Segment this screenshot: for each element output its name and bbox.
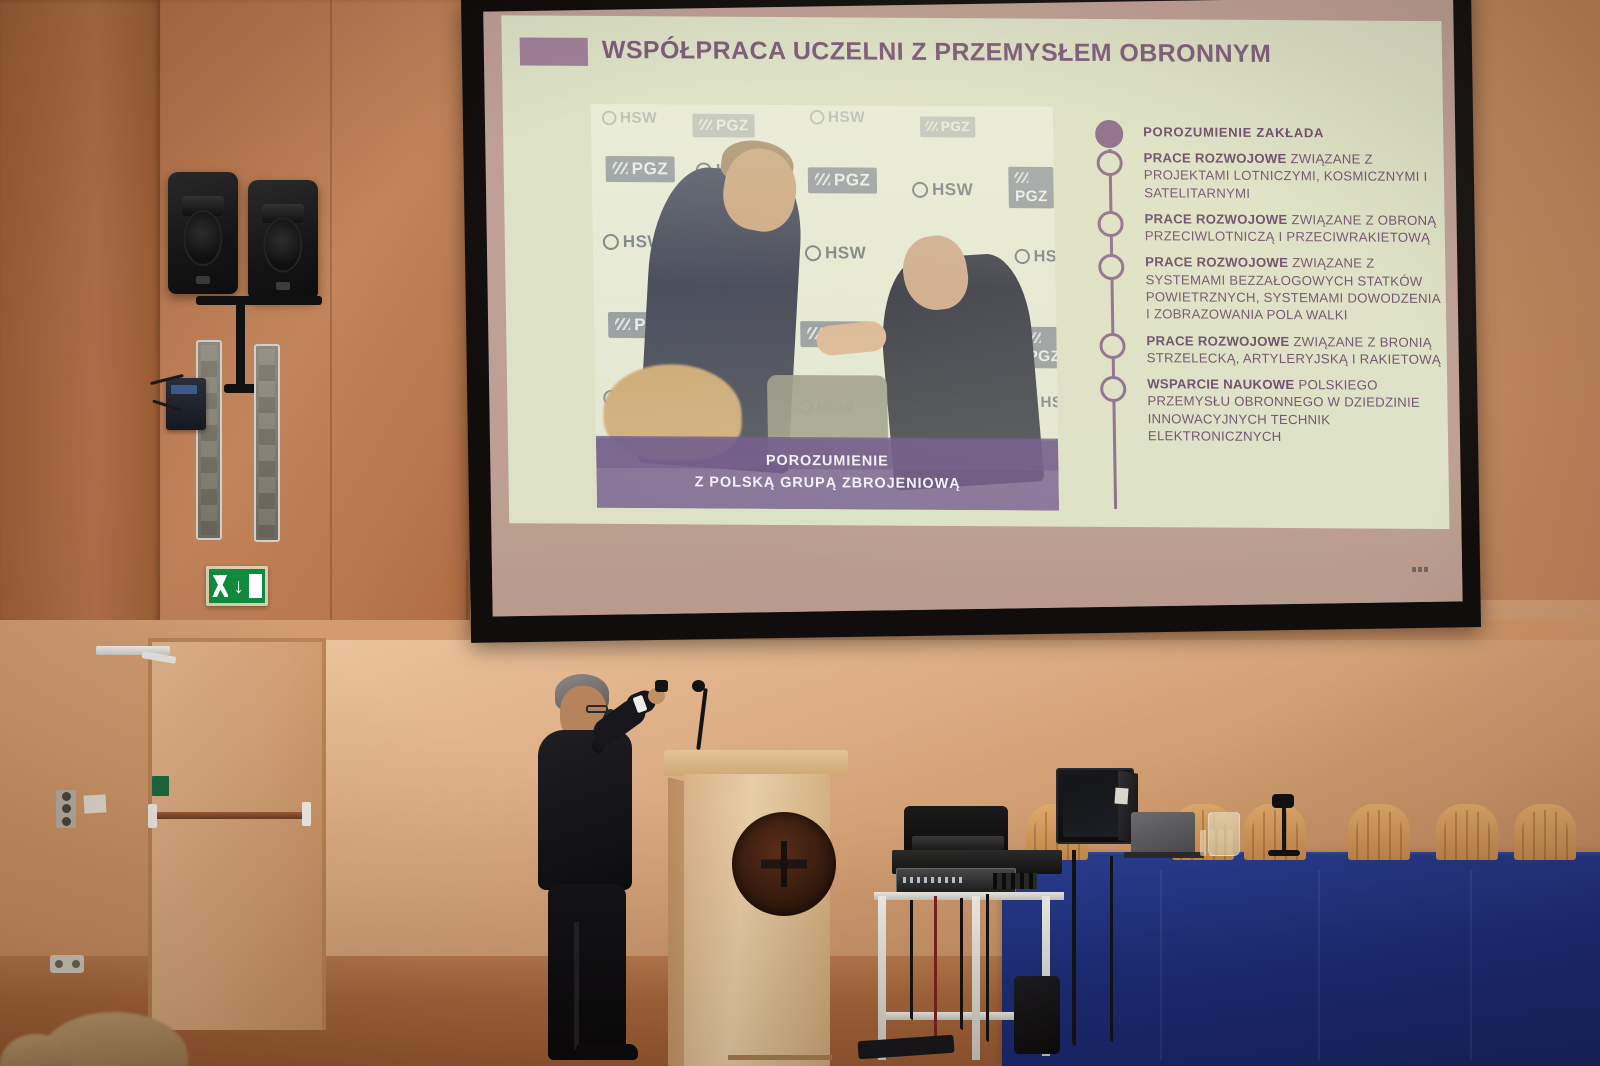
slide-bullet-text: PRACE ROZWOJOWE ZWIĄZANE Z SYSTEMAMI BEZ… (1145, 254, 1442, 325)
speaker-pole (236, 300, 245, 392)
screen-brand-mark (1412, 567, 1428, 572)
pgz-stripes-icon (699, 119, 713, 130)
speaker-pole-base (224, 384, 258, 393)
drape-fold (1470, 870, 1472, 1060)
hsw-roundel-icon (603, 234, 619, 250)
timeline-dot-hollow (1100, 376, 1126, 402)
audio-mixer-lid (912, 836, 1004, 850)
slide-bullet: PRACE ROZWOJOWE ZWIĄZANE Z SYSTEMAMI BEZ… (1097, 253, 1442, 324)
chair (1514, 804, 1576, 860)
column-speaker-grill (201, 345, 217, 535)
pgz-wordmark: PGZ (834, 170, 871, 189)
rack-led-meters (903, 877, 965, 883)
floor-cable (1110, 856, 1113, 1042)
lectern-emblem-detail (761, 841, 807, 887)
chair (1436, 804, 1498, 860)
slide-bullet-text: WSPARCIE NAUKOWE POLSKIEGO PRZEMYSŁU OBR… (1147, 375, 1444, 446)
speaker-crossbar (196, 296, 322, 305)
emergency-exit-sign: ↓ (206, 566, 268, 606)
presentation-clicker (655, 680, 668, 692)
hsw-wordmark: HSW (828, 108, 865, 126)
presenter-shoe (576, 1044, 638, 1060)
floor-cable (1072, 850, 1076, 1046)
lectern (664, 750, 848, 1066)
exit-door-glyph (249, 574, 262, 598)
wall-panel-second (160, 0, 470, 640)
pa-speaker-right (248, 180, 318, 300)
backdrop-logo-hsw: HSW (810, 108, 865, 126)
timeline-dot-hollow (1099, 332, 1125, 358)
hsw-roundel-icon (912, 182, 928, 198)
cart-top-shelf (874, 892, 1064, 900)
hsw-wordmark: HSW (620, 109, 657, 127)
backdrop-logo-pgz: PGZ (1008, 167, 1054, 209)
slide-bullet-text: POROZUMIENIE ZAKŁADA (1143, 119, 1439, 142)
speaker-badge (196, 276, 210, 284)
receiver-display (171, 385, 197, 394)
door-push-bar[interactable] (152, 812, 308, 819)
cart-leg (878, 896, 886, 1060)
switch-button[interactable] (62, 792, 71, 801)
timeline-dot-hollow (1098, 254, 1124, 280)
slide-bullet-lead: PRACE ROZWOJOWE (1145, 255, 1288, 271)
hsw-roundel-icon (805, 245, 821, 261)
backdrop-logo-hsw: HSW (912, 180, 973, 200)
lectern-foot-trim (728, 1055, 832, 1060)
slide-bullet: POROZUMIENIE ZAKŁADA (1095, 119, 1439, 142)
slide-bullet-lead: PRACE ROZWOJOWE (1146, 333, 1289, 349)
wall-seam (330, 0, 332, 660)
drape-fold (1318, 870, 1320, 1060)
speaker-woofer (183, 210, 222, 266)
laptop (1131, 812, 1195, 856)
water-carafe (1208, 812, 1240, 856)
backdrop-logo-pgz: PGZ (808, 167, 878, 193)
slide-bullet-lead: POROZUMIENIE ZAKŁADA (1143, 124, 1324, 140)
slide-bullet-lead: PRACE ROZWOJOWE (1143, 150, 1286, 166)
backdrop-logo-hsw: HSW (805, 243, 866, 263)
hsw-wordmark: HSW (825, 243, 866, 263)
switch-button[interactable] (62, 817, 71, 826)
projected-slide: WSPÓŁPRACA UCZELNI Z PRZEMYSŁEM OBRONNYM… (501, 15, 1449, 529)
slide-bullet-lead: PRACE ROZWOJOWE (1144, 211, 1287, 227)
switch-button[interactable] (62, 804, 71, 813)
lectern-body (684, 774, 830, 1066)
rack-knobs (993, 873, 1037, 889)
pgz-stripes-icon (815, 173, 830, 185)
equipment-bag (1014, 976, 1060, 1054)
socket-hole (55, 960, 63, 968)
cart-leg (972, 896, 980, 1060)
hsw-roundel-icon (602, 111, 617, 125)
slide-bullet: PRACE ROZWOJOWE ZWIĄZANE Z PROJEKTAMI LO… (1095, 149, 1440, 203)
lectern-top (664, 750, 848, 776)
laptop-base (1124, 852, 1204, 858)
title-accent-rect (520, 37, 588, 65)
push-bar-mount-right (302, 802, 311, 826)
backdrop-logo-pgz: PGZ (692, 114, 755, 138)
av-equipment-cart (874, 800, 1064, 1066)
hsw-roundel-icon (1015, 249, 1030, 264)
presenter-leg-split (574, 922, 579, 1050)
presenter-torso (538, 730, 632, 890)
slide-bullet: PRACE ROZWOJOWE ZWIĄZANE Z BRONIĄ STRZEL… (1098, 331, 1443, 368)
slide-photo: HSWPGZHSWPGZPGZHSWPGZHSWPGZHSWHSWHSWPGZP… (591, 104, 1059, 511)
wireless-receiver (166, 378, 206, 430)
pgz-stripes-icon (613, 162, 628, 174)
presenter-legs (548, 884, 626, 1060)
chair-back-slats (1522, 810, 1568, 860)
photo-caption: POROZUMIENIE Z POLSKĄ GRUPĄ ZBROJENIOWĄ (596, 436, 1059, 511)
pgz-wordmark: PGZ (1015, 187, 1048, 204)
column-speaker-grill (259, 349, 275, 537)
photo-caption-line2: Z POLSKĄ GRUPĄ ZBROJENIOWĄ (695, 472, 961, 495)
screen-surface: WSPÓŁPRACA UCZELNI Z PRZEMYSŁEM OBRONNYM… (483, 0, 1462, 617)
hsw-wordmark: HSW (932, 180, 973, 200)
pgz-wordmark: PGZ (716, 117, 749, 134)
timeline-rows: POROZUMIENIE ZAKŁADAPRACE ROZWOJOWE ZWIĄ… (1095, 119, 1444, 446)
pa-speaker-left (168, 172, 238, 294)
wall-socket (50, 955, 84, 973)
slide-bullet-text: PRACE ROZWOJOWE ZWIĄZANE Z PROJEKTAMI LO… (1143, 149, 1440, 203)
chair-back-slats (1356, 810, 1402, 860)
column-speaker-right (254, 344, 280, 542)
speaker-badge (276, 282, 290, 290)
light-switch-plate[interactable] (56, 790, 76, 828)
pgz-wordmark: PGZ (941, 119, 970, 134)
slide-bullet-text: PRACE ROZWOJOWE ZWIĄZANE Z OBRONĄ PRZECI… (1144, 210, 1441, 246)
chair (1348, 804, 1410, 860)
slide-bullet: PRACE ROZWOJOWE ZWIĄZANE Z OBRONĄ PRZECI… (1096, 210, 1441, 247)
chair-back-slats (1444, 810, 1490, 860)
backdrop-logo-pgz: PGZ (605, 156, 675, 182)
slide-timeline: POROZUMIENIE ZAKŁADAPRACE ROZWOJOWE ZWIĄ… (1095, 119, 1445, 515)
presenter (522, 672, 672, 1066)
socket-hole (72, 960, 80, 968)
slide-title: WSPÓŁPRACA UCZELNI Z PRZEMYSŁEM OBRONNYM (602, 36, 1423, 70)
table-microphone-base (1268, 850, 1300, 856)
power-cable (934, 896, 937, 1046)
cable (986, 894, 989, 1042)
slide-bullet-lead: WSPARCIE NAUKOWE (1147, 376, 1295, 392)
cable (960, 898, 963, 1030)
hsw-wordmark: HSW (1040, 394, 1059, 412)
projection-screen: WSPÓŁPRACA UCZELNI Z PRZEMYSŁEM OBRONNYM… (461, 0, 1481, 643)
table-microphone-stand (1282, 800, 1286, 856)
slide-bullet: WSPARCIE NAUKOWE POLSKIEGO PRZEMYSŁU OBR… (1099, 375, 1444, 446)
wall-note-card (84, 794, 107, 813)
down-arrow-icon: ↓ (233, 576, 244, 597)
push-bar-mount-left (148, 804, 157, 828)
drape-fold (1160, 870, 1162, 1060)
monitor-sticker (1114, 788, 1128, 805)
photo-caption-line1: POROZUMIENIE (766, 451, 889, 473)
door-green-sign (152, 776, 169, 796)
backdrop-logo-pgz: PGZ (920, 116, 976, 137)
gooseneck-microphone-head (692, 680, 705, 692)
slide-bullet-text: PRACE ROZWOJOWE ZWIĄZANE Z BRONIĄ STRZEL… (1146, 332, 1443, 368)
head-table (1002, 856, 1600, 1066)
timeline-dot-filled (1095, 120, 1123, 148)
rack-amplifier (896, 868, 1016, 894)
column-speaker-left (196, 340, 222, 540)
hsw-wordmark: HSW (1034, 247, 1060, 266)
pgz-stripes-icon (926, 121, 938, 131)
timeline-dot-hollow (1096, 150, 1122, 176)
backdrop-logo-hsw: HSW (1015, 247, 1060, 266)
conference-hall-photo: ↓ WSPÓŁPRACA UCZELNI Z PRZEMYSŁEM OBRONN… (0, 0, 1600, 1066)
hsw-roundel-icon (810, 110, 825, 124)
pgz-stripes-icon (1015, 172, 1029, 183)
lectern-emblem (732, 812, 836, 916)
backdrop-logo-hsw: HSW (602, 109, 657, 127)
timeline-dot-hollow (1097, 211, 1123, 237)
running-man-icon (212, 575, 228, 597)
emergency-door[interactable] (148, 638, 326, 1030)
pgz-wordmark: PGZ (632, 159, 669, 178)
speaker-woofer (263, 217, 302, 272)
pgz-stripes-icon (615, 318, 630, 330)
cable (910, 900, 913, 1020)
